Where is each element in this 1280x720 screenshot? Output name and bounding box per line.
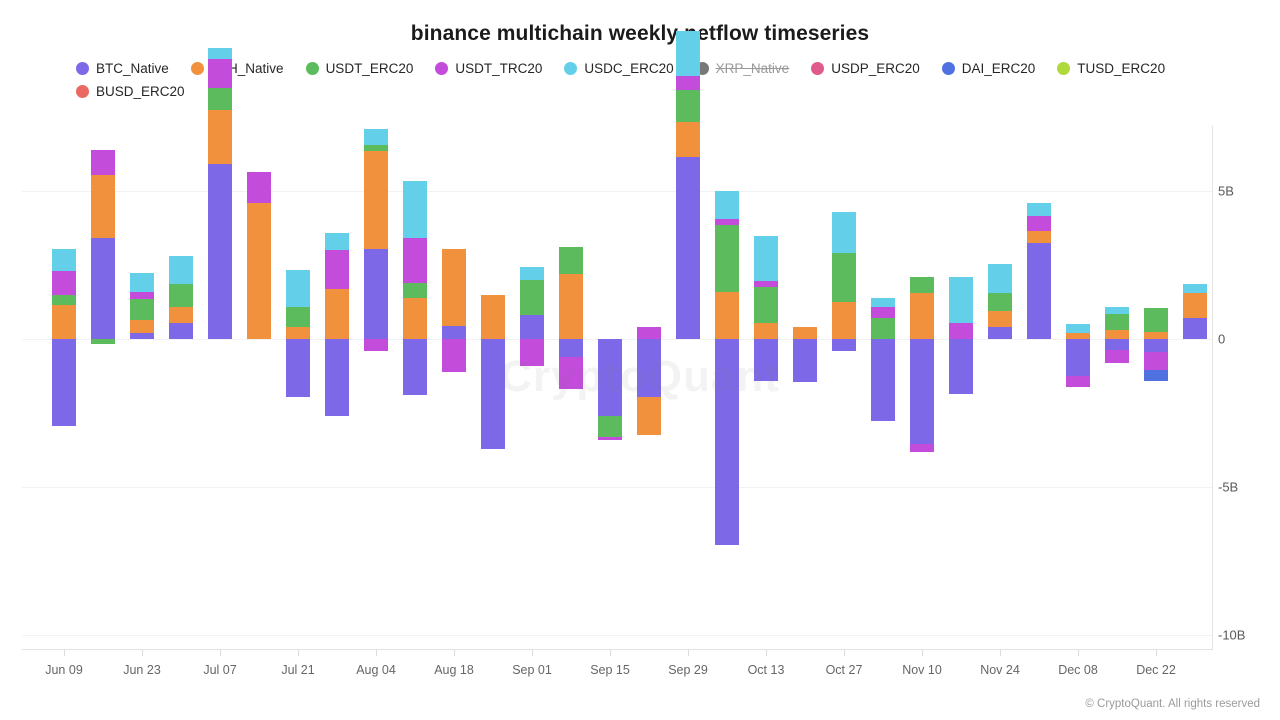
bar-segment-eth_native	[910, 293, 934, 339]
bar-segment-eth_native	[325, 289, 349, 339]
bar-group[interactable]	[52, 126, 76, 650]
x-axis-tick	[142, 650, 143, 656]
plot-area: 5B0-5B-10BJun 09Jun 23Jul 07Jul 21Aug 04…	[22, 126, 1212, 650]
bar-segment-usdc_erc20	[754, 236, 778, 282]
legend-item-eth_native[interactable]: ETH_Native	[191, 60, 284, 77]
bar-segment-usdt_erc20	[364, 145, 388, 151]
bar-segment-eth_native	[481, 295, 505, 339]
bar-segment-eth_native	[1027, 231, 1051, 243]
bar-segment-usdt_trc20	[130, 292, 154, 299]
bar-group[interactable]	[949, 126, 973, 650]
bar-segment-eth_native	[1066, 333, 1090, 339]
page-title: binance multichain weekly netflow timese…	[0, 22, 1280, 46]
x-axis-tick-label: Sep 01	[512, 663, 552, 677]
bar-segment-usdc_erc20	[169, 256, 193, 284]
legend-item-label: USDT_TRC20	[455, 61, 542, 76]
x-axis-tick	[1156, 650, 1157, 656]
bar-segment-eth_native	[1183, 293, 1207, 318]
bar-segment-usdt_erc20	[676, 90, 700, 121]
bar-segment-eth_native	[754, 323, 778, 339]
y-axis-tick-label: -10B	[1218, 628, 1245, 643]
bar-segment-btc_native	[949, 339, 973, 394]
bar-segment-btc_native	[481, 339, 505, 449]
bar-group[interactable]	[754, 126, 778, 650]
bar-segment-usdt_trc20	[91, 150, 115, 175]
x-axis-tick-label: Dec 08	[1058, 663, 1098, 677]
x-axis-tick-label: Oct 27	[826, 663, 863, 677]
y-axis-line	[1212, 126, 1213, 650]
bar-segment-btc_native	[754, 339, 778, 380]
bar-group[interactable]	[637, 126, 661, 650]
bar-group[interactable]	[559, 126, 583, 650]
bar-segment-usdt_erc20	[754, 287, 778, 323]
y-axis-tick-label: -5B	[1218, 480, 1238, 495]
bar-segment-usdc_erc20	[949, 277, 973, 323]
bar-segment-usdc_erc20	[1105, 307, 1129, 314]
bar-segment-btc_native	[169, 323, 193, 339]
bar-segment-eth_native	[559, 274, 583, 339]
legend-item-busd_erc20[interactable]: BUSD_ERC20	[76, 83, 185, 100]
bar-group[interactable]	[793, 126, 817, 650]
legend-swatch-icon	[306, 62, 319, 75]
x-axis-tick-label: Jul 21	[281, 663, 314, 677]
bar-segment-btc_native	[52, 339, 76, 426]
bar-segment-usdt_trc20	[364, 339, 388, 351]
bar-segment-usdt_trc20	[403, 238, 427, 282]
bar-segment-usdt_trc20	[676, 76, 700, 91]
x-axis-tick	[922, 650, 923, 656]
bar-segment-usdt_erc20	[598, 416, 622, 437]
x-axis-tick	[454, 650, 455, 656]
bar-segment-usdt_trc20	[598, 437, 622, 440]
bar-segment-btc_native	[559, 339, 583, 357]
bar-segment-usdt_trc20	[559, 357, 583, 390]
bar-group[interactable]	[1105, 126, 1129, 650]
bar-segment-dai_erc20	[1144, 370, 1168, 380]
legend-item-label: BTC_Native	[96, 61, 169, 76]
legend-item-label: USDP_ERC20	[831, 61, 920, 76]
bar-segment-eth_native	[988, 311, 1012, 327]
bar-segment-usdt_trc20	[637, 327, 661, 339]
bar-segment-usdt_erc20	[871, 318, 895, 339]
x-axis-tick	[1078, 650, 1079, 656]
x-axis-tick	[298, 650, 299, 656]
bar-group[interactable]	[910, 126, 934, 650]
bar-segment-usdt_erc20	[286, 307, 310, 328]
bar-group[interactable]	[91, 126, 115, 650]
legend-swatch-icon	[564, 62, 577, 75]
bar-segment-eth_native	[442, 249, 466, 326]
bar-segment-btc_native	[520, 315, 544, 339]
bar-segment-usdt_erc20	[520, 280, 544, 316]
bar-group[interactable]	[481, 126, 505, 650]
bar-segment-usdt_trc20	[910, 444, 934, 451]
bar-segment-usdc_erc20	[403, 181, 427, 239]
bar-group[interactable]	[520, 126, 544, 650]
legend-item-label: BUSD_ERC20	[96, 84, 185, 99]
legend-item-label: TUSD_ERC20	[1077, 61, 1165, 76]
legend-item-label: XRP_Native	[716, 61, 790, 76]
bar-segment-usdt_erc20	[1105, 314, 1129, 330]
bar-segment-usdt_erc20	[208, 88, 232, 110]
bar-segment-usdt_erc20	[169, 284, 193, 306]
legend-item-dai_erc20[interactable]: DAI_ERC20	[942, 60, 1036, 77]
bar-segment-usdt_trc20	[52, 271, 76, 295]
bar-segment-eth_native	[52, 305, 76, 339]
bar-segment-btc_native	[871, 339, 895, 420]
bar-segment-usdt_trc20	[949, 323, 973, 339]
bar-group[interactable]	[169, 126, 193, 650]
bar-segment-btc_native	[403, 339, 427, 395]
bar-segment-usdt_trc20	[715, 219, 739, 225]
bar-segment-usdc_erc20	[1183, 284, 1207, 293]
bar-segment-eth_native	[715, 292, 739, 339]
bar-segment-usdt_trc20	[325, 250, 349, 288]
bar-segment-btc_native	[793, 339, 817, 382]
x-axis-tick-label: Jun 09	[45, 663, 83, 677]
legend-swatch-icon	[191, 62, 204, 75]
bar-segment-btc_native	[988, 327, 1012, 339]
bar-segment-btc_native	[910, 339, 934, 444]
bar-segment-usdt_trc20	[1066, 376, 1090, 386]
legend-item-label: USDT_ERC20	[326, 61, 414, 76]
bar-segment-usdt_trc20	[1144, 352, 1168, 370]
bar-segment-btc_native	[130, 333, 154, 339]
x-axis-tick	[220, 650, 221, 656]
legend-swatch-icon	[435, 62, 448, 75]
x-axis-tick-label: Oct 13	[748, 663, 785, 677]
bar-segment-usdt_trc20	[754, 281, 778, 287]
bar-segment-usdt_trc20	[1027, 216, 1051, 231]
bar-group[interactable]	[325, 126, 349, 650]
bar-group[interactable]	[286, 126, 310, 650]
bar-segment-eth_native	[364, 151, 388, 249]
bar-segment-usdc_erc20	[988, 264, 1012, 294]
bar-segment-btc_native	[286, 339, 310, 397]
x-axis-tick	[1000, 650, 1001, 656]
bar-segment-btc_native	[1027, 243, 1051, 339]
bar-segment-btc_native	[637, 339, 661, 397]
bar-group[interactable]	[676, 126, 700, 650]
bar-group[interactable]	[442, 126, 466, 650]
x-axis-tick-label: Jun 23	[123, 663, 161, 677]
bar-group[interactable]	[403, 126, 427, 650]
x-axis-tick-label: Sep 15	[590, 663, 630, 677]
bar-segment-usdt_trc20	[442, 339, 466, 372]
legend-item-usdc_erc20[interactable]: USDC_ERC20	[564, 60, 673, 77]
legend-item-label: USDC_ERC20	[584, 61, 673, 76]
bar-segment-usdt_erc20	[559, 247, 583, 274]
x-axis-tick	[844, 650, 845, 656]
bar-segment-btc_native	[325, 339, 349, 416]
bar-segment-usdt_erc20	[52, 295, 76, 305]
bar-segment-usdc_erc20	[871, 298, 895, 307]
bar-segment-usdc_erc20	[676, 31, 700, 75]
bar-group[interactable]	[832, 126, 856, 650]
legend-swatch-icon	[811, 62, 824, 75]
bar-segment-usdt_trc20	[520, 339, 544, 366]
bar-segment-usdc_erc20	[325, 233, 349, 251]
bar-segment-eth_native	[832, 302, 856, 339]
bar-segment-btc_native	[715, 339, 739, 545]
bar-segment-eth_native	[208, 110, 232, 165]
bar-segment-usdt_trc20	[871, 307, 895, 319]
x-axis-tick	[766, 650, 767, 656]
x-axis-tick	[532, 650, 533, 656]
y-axis-tick-label: 5B	[1218, 184, 1234, 199]
bar-segment-btc_native	[832, 339, 856, 351]
x-axis-tick	[64, 650, 65, 656]
bar-segment-usdt_trc20	[247, 172, 271, 203]
legend-item-label: DAI_ERC20	[962, 61, 1036, 76]
x-axis-tick	[610, 650, 611, 656]
bar-segment-usdt_erc20	[910, 277, 934, 293]
bar-group[interactable]	[1183, 126, 1207, 650]
bar-segment-eth_native	[676, 122, 700, 158]
bar-segment-usdc_erc20	[208, 48, 232, 60]
bar-segment-usdt_erc20	[988, 293, 1012, 311]
legend-item-usdp_erc20[interactable]: USDP_ERC20	[811, 60, 920, 77]
bar-segment-btc_native	[364, 249, 388, 339]
bar-segment-usdt_erc20	[130, 299, 154, 320]
x-axis-tick-label: Aug 18	[434, 663, 474, 677]
bar-segment-btc_native	[1183, 318, 1207, 339]
bar-segment-eth_native	[169, 307, 193, 323]
bar-group[interactable]	[1066, 126, 1090, 650]
bar-segment-usdt_erc20	[403, 283, 427, 298]
bar-group[interactable]	[598, 126, 622, 650]
chart-page: binance multichain weekly netflow timese…	[0, 0, 1280, 720]
bar-group[interactable]	[715, 126, 739, 650]
bar-segment-usdt_erc20	[1144, 308, 1168, 332]
bar-segment-eth_native	[247, 203, 271, 339]
bar-segment-eth_native	[1105, 330, 1129, 339]
x-axis-tick-label: Nov 10	[902, 663, 942, 677]
bar-segment-eth_native	[637, 397, 661, 435]
bar-segment-eth_native	[91, 175, 115, 239]
chart-legend: BTC_NativeETH_NativeUSDT_ERC20USDT_TRC20…	[76, 60, 1236, 106]
legend-swatch-icon	[76, 62, 89, 75]
bar-segment-eth_native	[793, 327, 817, 339]
bar-segment-usdt_erc20	[715, 225, 739, 292]
bar-group[interactable]	[988, 126, 1012, 650]
copyright-notice: © CryptoQuant. All rights reserved	[1085, 698, 1260, 710]
bar-segment-btc_native	[442, 326, 466, 339]
legend-item-usdt_trc20[interactable]: USDT_TRC20	[435, 60, 542, 77]
bar-segment-usdt_trc20	[208, 59, 232, 87]
bar-group[interactable]	[247, 126, 271, 650]
bar-segment-usdt_trc20	[1105, 350, 1129, 363]
bar-group[interactable]	[1027, 126, 1051, 650]
bar-segment-usdc_erc20	[1066, 324, 1090, 333]
bar-segment-usdc_erc20	[52, 249, 76, 271]
bar-segment-eth_native	[403, 298, 427, 339]
bar-segment-eth_native	[130, 320, 154, 333]
bar-segment-usdt_erc20	[832, 253, 856, 302]
bar-segment-usdc_erc20	[130, 273, 154, 292]
bar-segment-usdc_erc20	[832, 212, 856, 253]
bar-segment-btc_native	[1105, 339, 1129, 349]
bar-group[interactable]	[364, 126, 388, 650]
x-axis-tick	[688, 650, 689, 656]
bar-segment-btc_native	[598, 339, 622, 416]
legend-swatch-icon	[942, 62, 955, 75]
x-axis-tick-label: Jul 07	[203, 663, 236, 677]
x-axis-tick-label: Aug 04	[356, 663, 396, 677]
bar-segment-btc_native	[1144, 339, 1168, 352]
legend-item-xrp_native[interactable]: XRP_Native	[696, 60, 790, 77]
legend-item-tusd_erc20[interactable]: TUSD_ERC20	[1057, 60, 1165, 77]
bar-segment-usdt_erc20	[91, 339, 115, 343]
x-axis-tick-label: Sep 29	[668, 663, 708, 677]
bar-segment-eth_native	[286, 327, 310, 339]
bar-segment-usdc_erc20	[1027, 203, 1051, 216]
bar-segment-btc_native	[91, 238, 115, 339]
bar-group[interactable]	[1144, 126, 1168, 650]
x-axis-tick-label: Nov 24	[980, 663, 1020, 677]
bar-group[interactable]	[871, 126, 895, 650]
bar-group[interactable]	[208, 126, 232, 650]
legend-swatch-icon	[76, 85, 89, 98]
x-axis-tick	[376, 650, 377, 656]
legend-item-btc_native[interactable]: BTC_Native	[76, 60, 169, 77]
bar-group[interactable]	[130, 126, 154, 650]
legend-swatch-icon	[1057, 62, 1070, 75]
bar-segment-btc_native	[676, 157, 700, 339]
bar-segment-usdc_erc20	[520, 267, 544, 280]
bar-segment-usdc_erc20	[715, 191, 739, 219]
bar-segment-btc_native	[208, 164, 232, 339]
x-axis-tick-label: Dec 22	[1136, 663, 1176, 677]
legend-item-usdt_erc20[interactable]: USDT_ERC20	[306, 60, 414, 77]
bar-segment-btc_native	[1066, 339, 1090, 376]
bar-segment-usdc_erc20	[286, 270, 310, 307]
bar-segment-eth_native	[1144, 332, 1168, 339]
bar-segment-usdc_erc20	[364, 129, 388, 145]
y-axis-tick-label: 0	[1218, 332, 1225, 347]
